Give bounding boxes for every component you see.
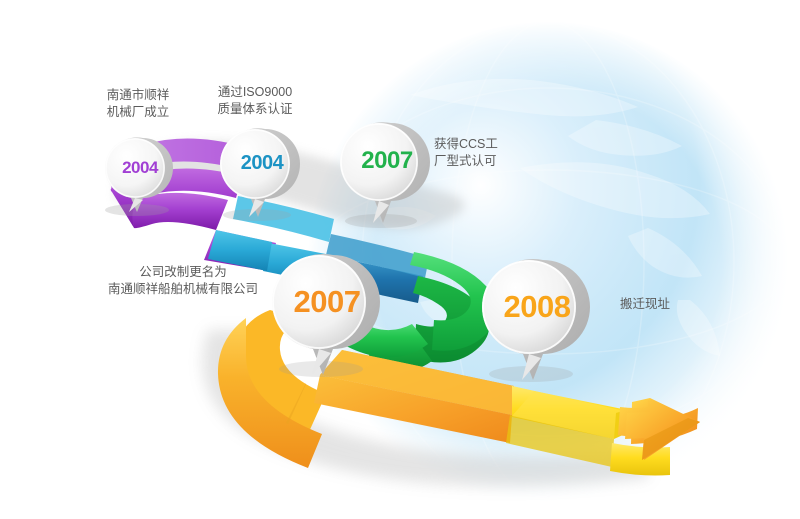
milestone-label-2008-relocation: 搬迁现址 (620, 296, 720, 313)
milestone-label-2004-founding: 南通市顺祥 机械厂成立 (80, 87, 196, 122)
milestone-label-2007-ccs: 获得CCS工 厂型式认可 (434, 136, 544, 171)
milestone-pin-2008-relocation[interactable]: 2008 (473, 250, 601, 386)
pin-year-label: 2004 (97, 159, 183, 176)
pin-year-label: 2008 (473, 291, 617, 322)
pin-year-label: 2004 (213, 153, 325, 173)
milestone-label-2004-iso: 通过ISO9000 质量体系认证 (197, 84, 313, 119)
infographic-canvas: 2004 2004 (0, 0, 800, 519)
milestone-pin-2007-rename[interactable]: 2007 (263, 245, 391, 381)
timeline-ribbon (0, 0, 800, 519)
pin-year-label: 2007 (263, 286, 407, 317)
milestone-pin-2004-iso[interactable]: 2004 (213, 119, 311, 223)
milestone-pin-2007-ccs[interactable]: 2007 (333, 113, 441, 231)
milestone-pin-2004-founding[interactable]: 2004 (97, 126, 183, 216)
milestone-label-2007-rename: 公司改制更名为 南通顺祥船舶机械有限公司 (95, 264, 271, 299)
